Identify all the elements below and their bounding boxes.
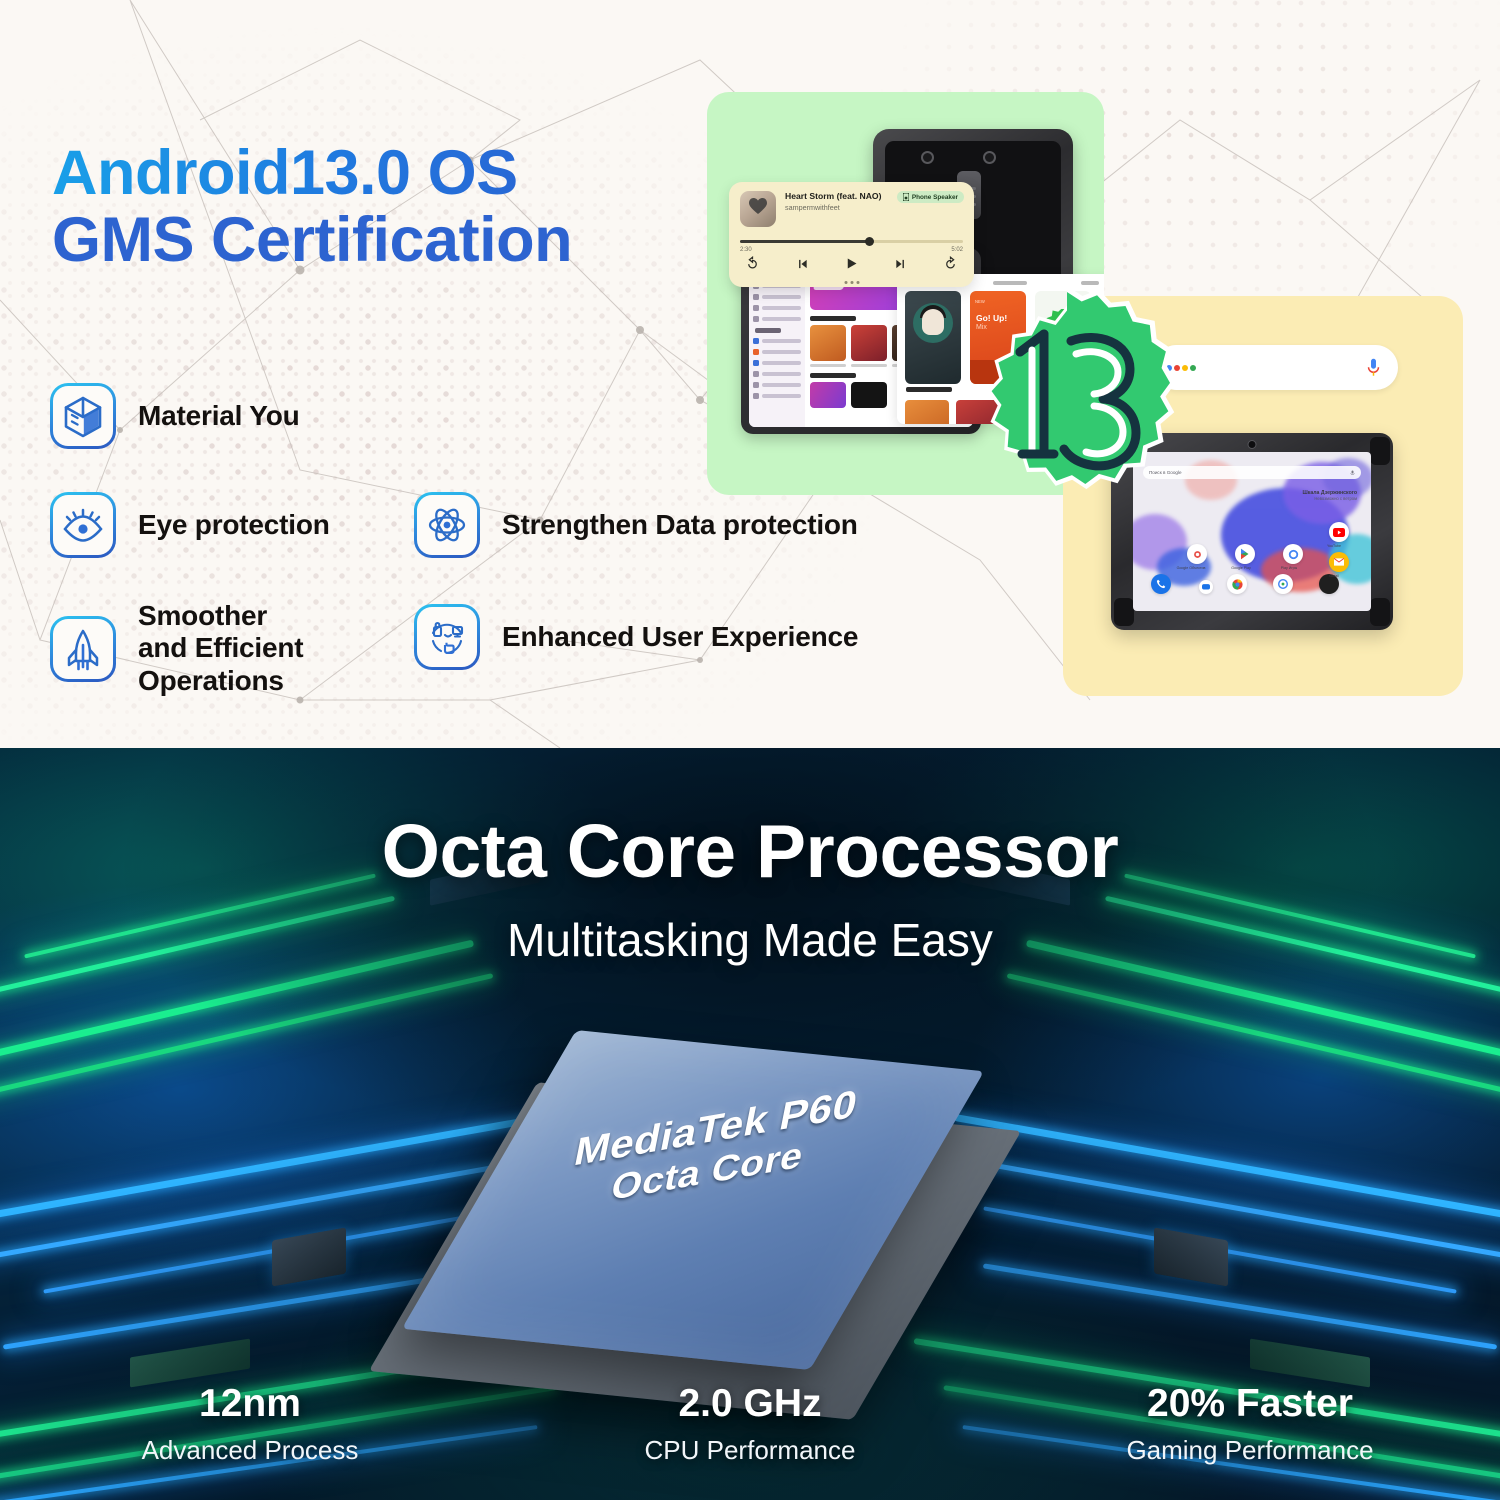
progress-slider[interactable] — [740, 240, 963, 243]
stat-advanced-process: 12nm Advanced Process — [0, 1382, 500, 1466]
next-track-icon[interactable] — [894, 257, 908, 271]
app-icon-camera[interactable] — [1187, 544, 1207, 564]
android-13-badge — [958, 286, 1176, 504]
media-player-widget[interactable]: Phone Speaker Heart Storm (feat. NAO) sa… — [729, 182, 974, 287]
feature-data-protection: Strengthen Data protection — [414, 492, 858, 558]
app-icon-youtube[interactable] — [1329, 522, 1349, 542]
eye-icon — [50, 492, 116, 558]
app-icon-chrome[interactable] — [1227, 574, 1247, 594]
time-elapsed: 2:30 — [740, 247, 752, 253]
forward-10-icon[interactable] — [943, 256, 958, 271]
time-total: 5:02 — [951, 247, 963, 253]
app-icon-messages[interactable] — [1199, 580, 1213, 594]
feature-eye-protection: Eye protection — [50, 492, 330, 558]
microphone-icon — [1350, 470, 1355, 476]
speaker-label: Phone Speaker — [912, 194, 958, 201]
stat-value: 20% Faster — [1000, 1382, 1500, 1426]
app-label: Google Play — [1225, 566, 1257, 570]
feature-user-experience: Enhanced User Experience — [414, 604, 858, 670]
processor-subtitle: Multitasking Made Easy — [0, 913, 1500, 967]
phone-speaker-chip[interactable]: Phone Speaker — [897, 191, 964, 203]
badge-version-number — [958, 286, 1176, 504]
cube-icon — [50, 383, 116, 449]
processor-title: Octa Core Processor — [0, 808, 1500, 894]
stat-label: Advanced Process — [0, 1435, 500, 1466]
track-artist: sampermwithfeet — [785, 203, 881, 212]
feature-label: Material You — [138, 400, 300, 432]
stat-value: 12nm — [0, 1382, 500, 1426]
app-icon-gmail[interactable] — [1329, 552, 1349, 572]
play-icon[interactable] — [844, 256, 859, 271]
album-art — [740, 191, 776, 227]
android-os-section: Android13.0 OS GMS Certification Materia… — [0, 0, 1500, 748]
feature-label: Smootherand EfficientOperations — [138, 600, 303, 697]
page-title: Android13.0 OS GMS Certification — [52, 140, 572, 275]
feature-smoother-operations: Smootherand EfficientOperations — [50, 600, 303, 697]
previous-track-icon[interactable] — [795, 257, 809, 271]
app-label: Gmail — [1321, 574, 1347, 578]
feature-label: Eye protection — [138, 509, 330, 541]
rocket-icon — [50, 616, 116, 682]
feature-label: Enhanced User Experience — [502, 621, 858, 653]
stat-value: 2.0 GHz — [500, 1382, 1000, 1426]
speaker-icon — [903, 193, 909, 201]
stat-label: CPU Performance — [500, 1435, 1000, 1466]
processor-chip: MediaTek P60 Octa Core — [330, 1010, 1170, 1430]
stat-cpu-performance: 2.0 GHz CPU Performance — [500, 1382, 1000, 1466]
app-label: Google Объектив — [1175, 566, 1207, 570]
headline-line-2: GMS Certification — [52, 207, 572, 274]
processor-section: Octa Core Processor Multitasking Made Ea… — [0, 748, 1500, 1500]
app-label: YouTube — [1321, 544, 1347, 548]
app-icon-phone[interactable] — [1151, 574, 1171, 594]
front-camera-icon — [1248, 440, 1257, 449]
microphone-icon[interactable] — [1365, 357, 1382, 379]
app-label: Play Игры — [1273, 566, 1305, 570]
track-title: Heart Storm (feat. NAO) — [785, 191, 881, 201]
app-icon-google[interactable] — [1283, 544, 1303, 564]
feature-label: Strengthen Data protection — [502, 509, 858, 541]
app-icon-play-store[interactable] — [1235, 544, 1255, 564]
stat-gaming-performance: 20% Faster Gaming Performance — [1000, 1382, 1500, 1466]
feature-material-you: Material You — [50, 383, 300, 449]
stat-label: Gaming Performance — [1000, 1435, 1500, 1466]
app-icon-assistant[interactable] — [1273, 574, 1293, 594]
weather-widget[interactable]: Шкала Дзержинского Невозможно с ветром — [1303, 490, 1357, 501]
spec-stats-row: 12nm Advanced Process 2.0 GHz CPU Perfor… — [0, 1382, 1500, 1466]
weather-detail: Невозможно с ветром — [1303, 496, 1357, 501]
headline-line-1: Android13.0 OS — [52, 140, 572, 207]
user-experience-icon — [414, 604, 480, 670]
rewind-10-icon[interactable] — [745, 256, 760, 271]
drag-handle[interactable] — [844, 281, 859, 284]
atom-icon — [414, 492, 480, 558]
google-search-bar[interactable] — [1154, 345, 1398, 390]
